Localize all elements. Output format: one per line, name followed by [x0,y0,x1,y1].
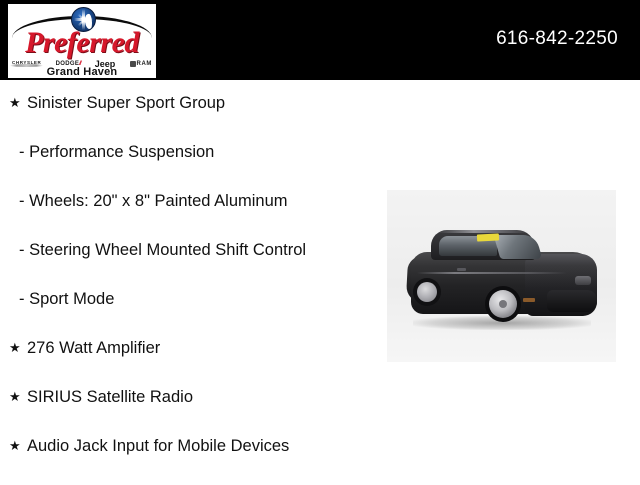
feature-label: - Sport Mode [19,289,114,309]
feature-label: - Wheels: 20" x 8" Painted Aluminum [19,191,288,211]
vehicle-side-marker-light [523,298,535,302]
feature-label: Sinister Super Sport Group [27,93,225,113]
list-item: - Steering Wheel Mounted Shift Control [0,240,400,289]
feature-label: SIRIUS Satellite Radio [27,387,193,407]
list-item: ★ Sinister Super Sport Group [0,93,400,142]
star-bullet-icon: ★ [9,436,27,456]
star-bullet-icon: ★ [9,338,27,358]
rear-wheel-rim [417,282,437,302]
vehicle-feature-list: ★ Sinister Super Sport Group - Performan… [0,80,400,485]
list-item: ★ 276 Watt Amplifier [0,338,400,387]
feature-label: Audio Jack Input for Mobile Devices [27,436,289,456]
vehicle-roof-highlight [437,230,529,233]
vehicle-door-handle [457,268,466,271]
star-bullet-icon: ★ [9,387,27,407]
list-item: ★ SIRIUS Satellite Radio [0,387,400,436]
front-wheel-hub [499,300,507,308]
vehicle-photo[interactable] [387,190,616,362]
site-header: Preferred CHRYSLER DODGE// Jeep RAM Gran… [0,0,640,80]
feature-label: - Performance Suspension [19,142,214,162]
list-item: ★ Audio Jack Input for Mobile Devices [0,436,400,485]
list-item: - Sport Mode [0,289,400,338]
list-item: - Performance Suspension [0,142,400,191]
list-item: - Wheels: 20" x 8" Painted Aluminum [0,191,400,240]
vehicle-windshield [494,235,543,259]
logo-wordmark: Preferred [8,28,156,58]
star-bullet-icon: ★ [9,93,27,113]
dealer-logo[interactable]: Preferred CHRYSLER DODGE// Jeep RAM Gran… [8,4,156,78]
vehicle-front-wheel [485,286,521,322]
vehicle-front-bumper [547,290,597,312]
feature-label: 276 Watt Amplifier [27,338,160,358]
vehicle-headlight [575,276,591,285]
vehicle-body-crease [417,272,567,274]
dealer-phone-number[interactable]: 616-842-2250 [496,28,618,50]
vehicle-rear-wheel [413,278,441,306]
feature-label: - Steering Wheel Mounted Shift Control [19,240,306,260]
windshield-price-sticker [477,233,499,241]
logo-city-name: Grand Haven [8,66,156,78]
